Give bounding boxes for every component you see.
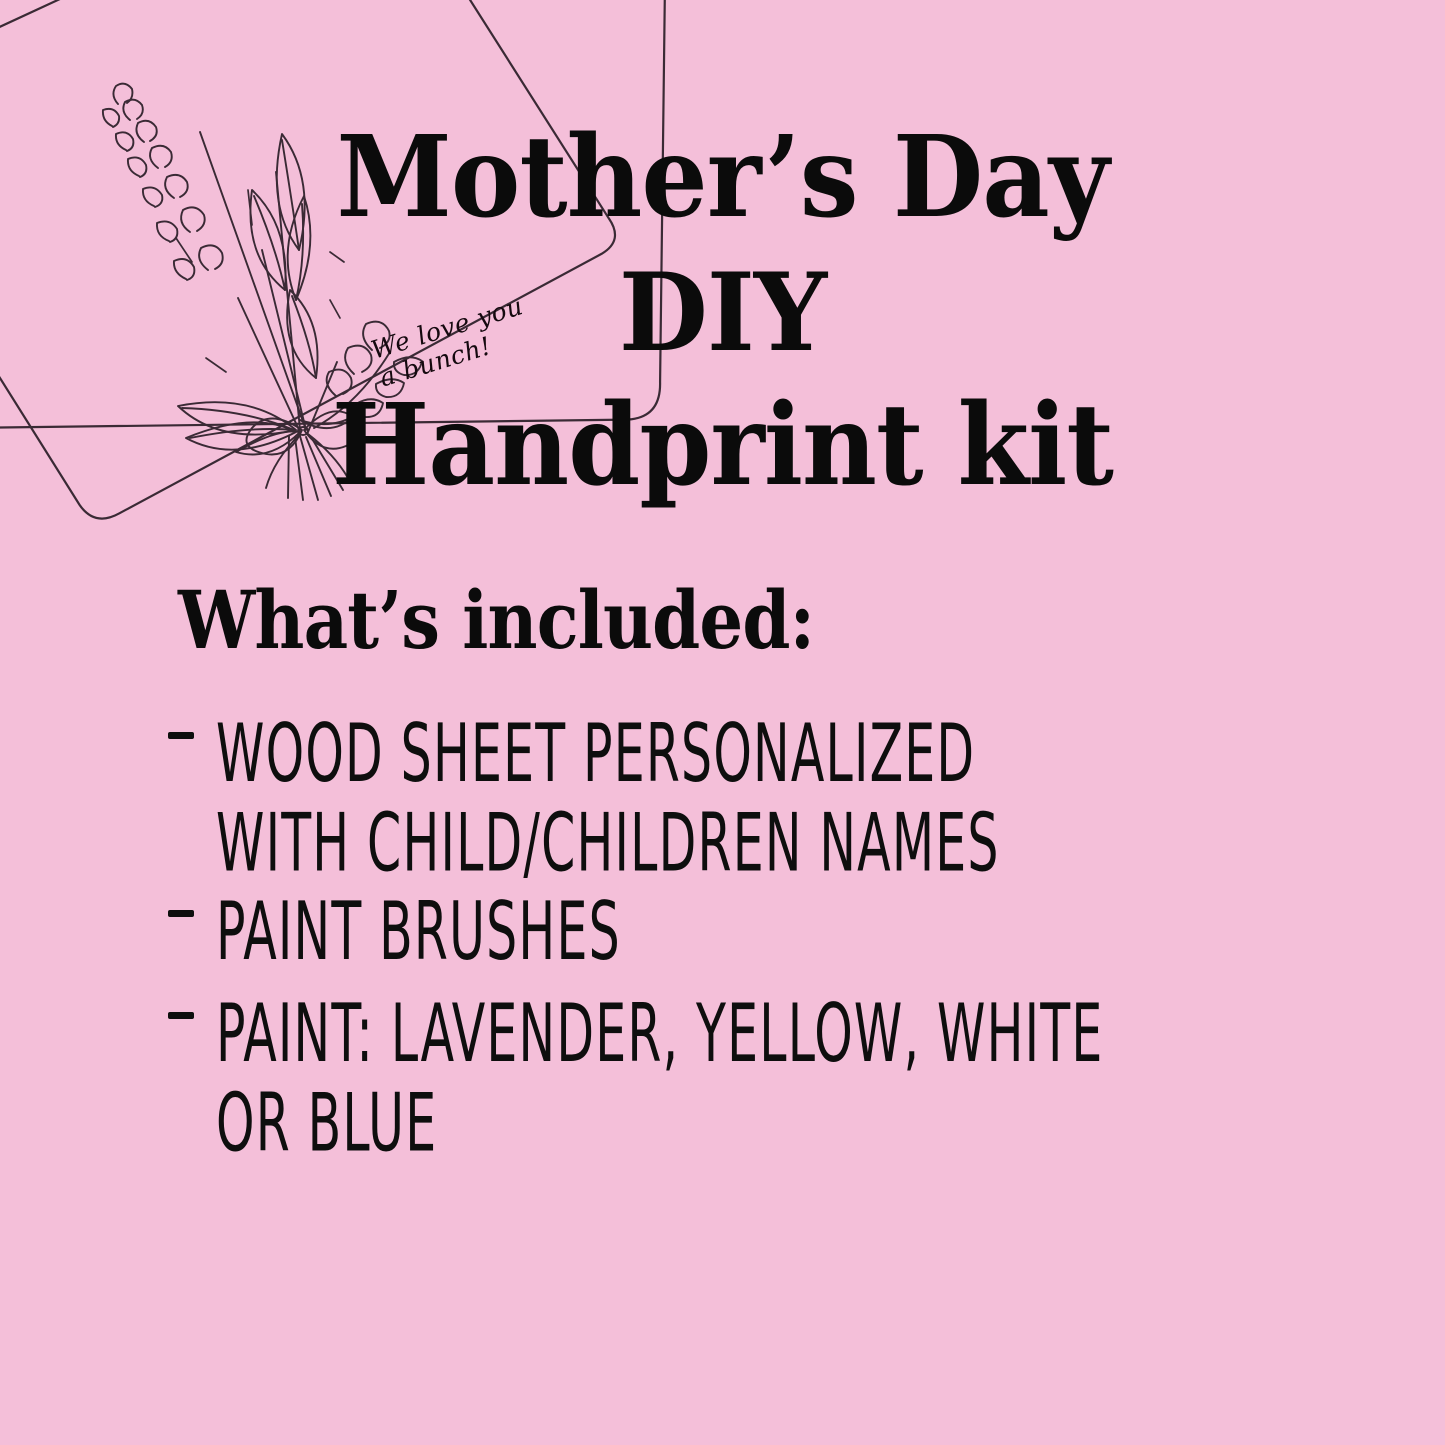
- list-item-label: PAINT BRUSHES: [216, 888, 1122, 978]
- page-title: Mother’s Day DIY Handprint kit: [0, 123, 1445, 502]
- bullet-dash-icon: [168, 1012, 198, 1019]
- title-line-2: DIY: [36, 260, 1409, 367]
- list-item: PAINT: LAVENDER, YELLOW, WHITE OR BLUE: [168, 990, 1348, 1142]
- mothers-day-kit-poster: We love you a bunch! Mother’s Day DIY Ha…: [0, 0, 1445, 1445]
- bullet-dash-icon: [168, 732, 198, 739]
- list-item-label: WOOD SHEET PERSONALIZED WITH CHILD/CHILD…: [216, 710, 1122, 890]
- bullet-dash-icon: [168, 910, 198, 917]
- title-line-3: Handprint kit: [58, 391, 1387, 502]
- section-heading-whats-included: What’s included:: [178, 580, 814, 660]
- list-item: PAINT BRUSHES: [168, 888, 1348, 964]
- includes-list: WOOD SHEET PERSONALIZED WITH CHILD/CHILD…: [168, 710, 1348, 1169]
- list-item-label: PAINT: LAVENDER, YELLOW, WHITE OR BLUE: [216, 990, 1122, 1170]
- list-item: WOOD SHEET PERSONALIZED WITH CHILD/CHILD…: [168, 710, 1348, 862]
- title-line-1: Mother’s Day: [51, 123, 1395, 234]
